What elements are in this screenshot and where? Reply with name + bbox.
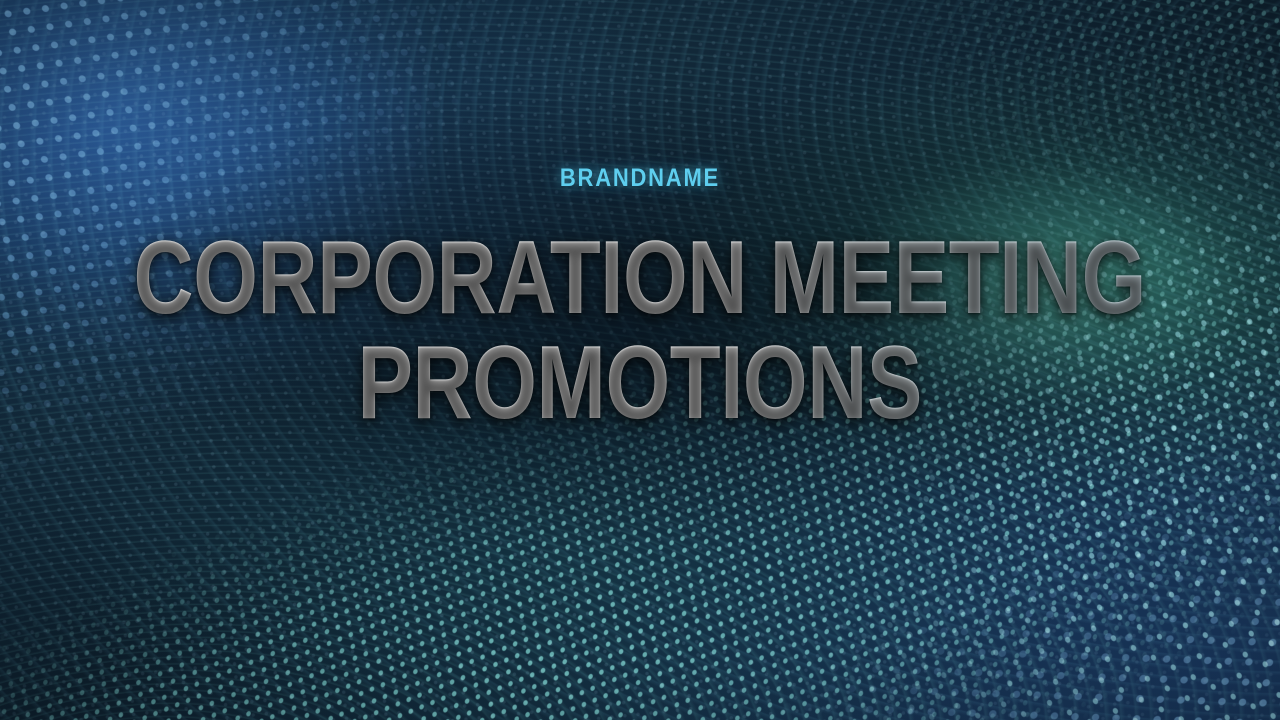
presentation-slide: BRANDNAME CORPORATION MEETING PROMOTIONS: [0, 0, 1280, 720]
headline-line-2: PROMOTIONS: [134, 334, 1146, 433]
headline-line-1: CORPORATION MEETING: [134, 229, 1146, 328]
slide-content: BRANDNAME CORPORATION MEETING PROMOTIONS: [0, 0, 1280, 720]
page-title: CORPORATION MEETING PROMOTIONS: [134, 229, 1146, 433]
brand-name-label: BRANDNAME: [560, 166, 720, 191]
